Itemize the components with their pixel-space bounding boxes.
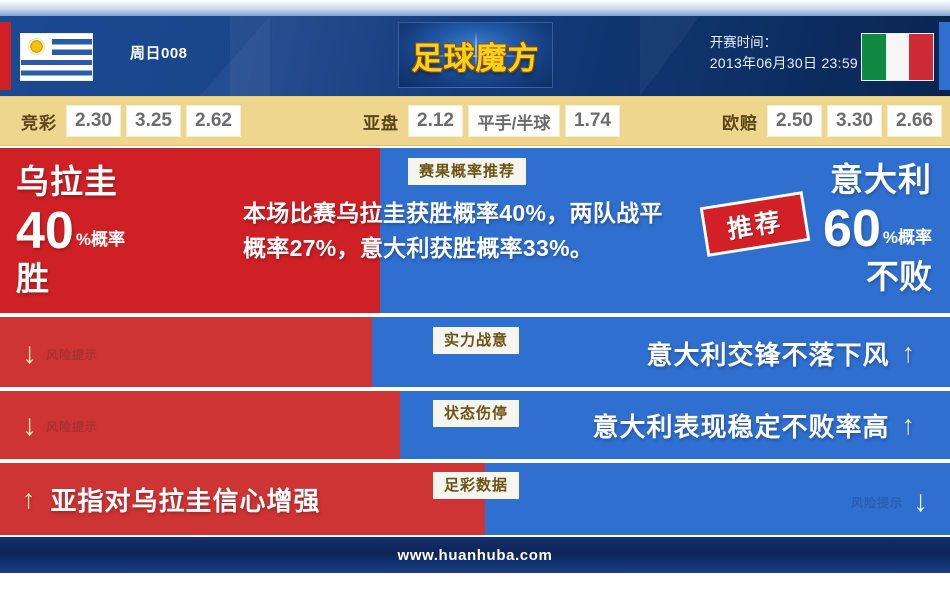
arrow-down-icon: ↓ — [22, 411, 37, 441]
kickoff-block: 开赛时间： 2013年06月30日 23:59 — [710, 32, 858, 74]
kickoff-value: 2013年06月30日 23:59 — [710, 53, 858, 74]
match-preview-infographic: 周日008 足球魔方 开赛时间： 2013年06月30日 23:59 竞彩 2.… — [0, 0, 950, 594]
away-probability-value: 60 — [823, 202, 881, 256]
flag-band-white — [886, 34, 910, 80]
insight-text-block-1: 意大利交锋不落下风 ↑ — [646, 335, 916, 372]
header-top-fade — [0, 0, 950, 16]
page-footer: www.huanhuba.com — [0, 537, 950, 573]
home-probability-value: 40 — [16, 204, 74, 258]
risk-label-3: 风险提示 — [851, 494, 903, 511]
flag-band-red — [909, 34, 933, 80]
bottom-whitespace — [0, 573, 950, 594]
risk-label-1: 风险提示 — [46, 346, 98, 363]
odds-group-jingcai: 竞彩 2.30 3.25 2.62 — [0, 105, 246, 137]
section-tag-form-injury: 状态伤停 — [433, 400, 519, 427]
uruguay-flag-icon — [20, 33, 93, 81]
away-team-name: 意大利 — [823, 160, 932, 200]
section-tag-strength: 实力战意 — [433, 327, 519, 354]
home-result-label: 胜 — [16, 260, 125, 298]
header-blue-accent-bar — [939, 22, 950, 90]
away-probability-suffix: %概率 — [881, 223, 932, 256]
odds-cell-european-draw[interactable]: 3.30 — [827, 105, 882, 137]
risk-indicator-left-2: ↓ 风险提示 — [22, 411, 98, 441]
odds-cell-asian-handicap[interactable]: 平手/半球 — [468, 105, 560, 137]
arrow-up-icon: ↑ — [902, 340, 917, 367]
odds-cell-european-home[interactable]: 2.50 — [767, 105, 822, 137]
insight-text-1: 意大利交锋不落下风 — [646, 335, 889, 372]
odds-group-european: 欧赔 2.50 3.30 2.66 — [713, 105, 947, 137]
odds-bar: 竞彩 2.30 3.25 2.62 亚盘 2.12 平手/半球 1.74 欧赔 … — [0, 96, 950, 146]
odds-group-asian: 亚盘 2.12 平手/半球 1.74 — [354, 105, 625, 137]
risk-label-2: 风险提示 — [46, 418, 98, 435]
odds-label-jingcai: 竞彩 — [12, 109, 66, 134]
insight-text-block-2: 意大利表现稳定不败率高 ↑ — [592, 407, 916, 444]
arrow-down-icon: ↓ — [913, 487, 928, 517]
odds-cell-european-away[interactable]: 2.66 — [887, 105, 942, 137]
insight-text-2: 意大利表现稳定不败率高 — [592, 407, 889, 444]
odds-label-european: 欧赔 — [713, 109, 767, 134]
away-result-label: 不败 — [823, 258, 932, 296]
page-header: 周日008 足球魔方 开赛时间： 2013年06月30日 23:59 — [0, 0, 950, 96]
arrow-down-icon: ↓ — [22, 339, 37, 369]
odds-cell-jingcai-draw[interactable]: 3.25 — [126, 105, 181, 137]
home-team-block: 乌拉圭 40 %概率 胜 — [16, 162, 125, 298]
kickoff-label: 开赛时间： — [710, 32, 858, 53]
home-probability-suffix: %概率 — [74, 225, 125, 258]
recommend-stamp-label: 推荐 — [725, 202, 786, 246]
odds-cell-jingcai-home[interactable]: 2.30 — [66, 105, 121, 137]
home-team-name: 乌拉圭 — [16, 162, 125, 202]
odds-cell-jingcai-away[interactable]: 2.62 — [186, 105, 241, 137]
flag-band-green — [862, 34, 886, 80]
header-red-accent-bar — [0, 22, 11, 90]
away-probability-line: 60 %概率 — [823, 202, 932, 256]
site-logo[interactable]: 足球魔方 — [398, 22, 553, 88]
header-diagonal-left — [200, 16, 270, 96]
italy-flag-icon — [861, 33, 934, 81]
odds-cell-asian-away[interactable]: 1.74 — [565, 105, 620, 137]
probability-summary-text: 本场比赛乌拉圭获胜概率40%，两队战平概率27%，意大利获胜概率33%。 — [243, 196, 683, 266]
header-diagonal-right — [640, 16, 700, 96]
logo-text: 足球魔方 — [399, 23, 552, 87]
insight-text-block-3: ↑ 亚指对乌拉圭信心增强 — [22, 481, 321, 518]
footer-url[interactable]: www.huanhuba.com — [398, 547, 553, 564]
odds-cell-asian-home[interactable]: 2.12 — [408, 105, 463, 137]
arrow-up-icon: ↑ — [22, 486, 37, 513]
home-probability-line: 40 %概率 — [16, 204, 125, 258]
away-team-block: 意大利 60 %概率 不败 — [823, 160, 932, 296]
round-label: 周日008 — [130, 42, 188, 63]
insight-text-3: 亚指对乌拉圭信心增强 — [51, 481, 321, 518]
arrow-up-icon: ↑ — [902, 412, 917, 439]
section-tag-probability: 赛果概率推荐 — [408, 158, 526, 185]
section-tag-betting-data: 足彩数据 — [433, 472, 519, 499]
sun-of-may-icon — [29, 39, 44, 54]
odds-label-asian: 亚盘 — [354, 109, 408, 134]
risk-indicator-right-3: 风险提示 ↓ — [851, 487, 928, 517]
risk-indicator-left-1: ↓ 风险提示 — [22, 339, 98, 369]
